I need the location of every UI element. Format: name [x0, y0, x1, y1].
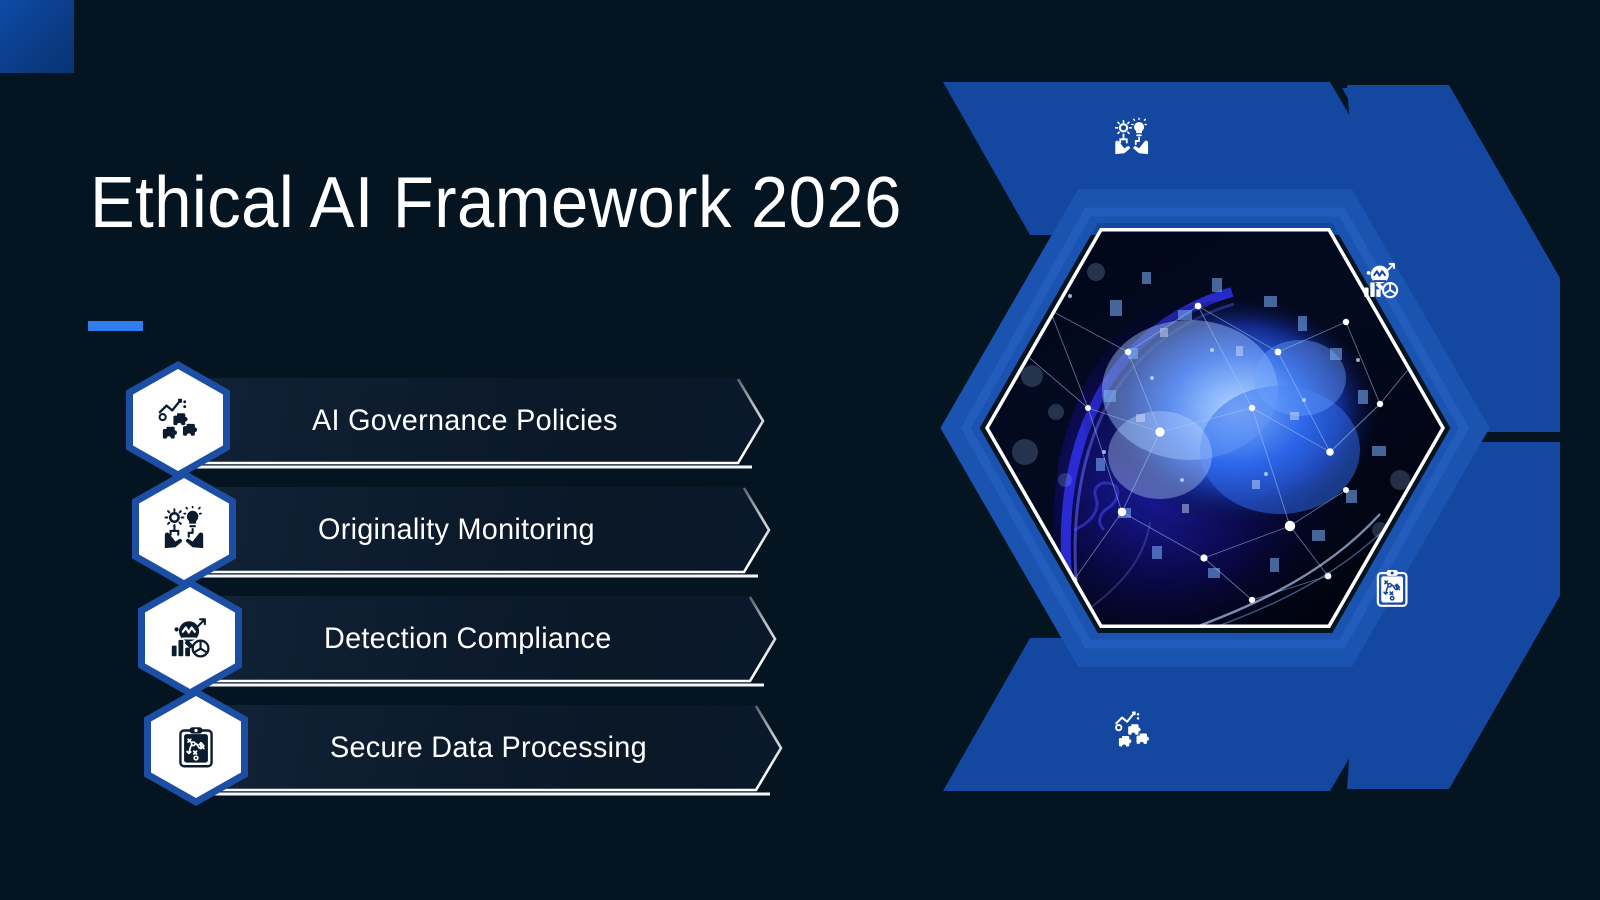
feature-row[interactable]: Secure Data Processing	[196, 705, 781, 815]
feature-hex-badge	[138, 579, 242, 697]
feature-label: AI Governance Policies	[312, 378, 618, 464]
feature-list: AI Governance Policies	[0, 0, 820, 900]
feature-row[interactable]: Originality Monitoring	[184, 487, 769, 597]
feature-label: Originality Monitoring	[318, 487, 595, 573]
feature-hex-badge	[144, 688, 248, 806]
feature-label: Detection Compliance	[324, 596, 612, 682]
feature-hex-badge	[132, 470, 236, 588]
feature-row[interactable]: AI Governance Policies	[178, 378, 763, 488]
slide-canvas: Ethical AI Framework 2026	[0, 0, 1600, 900]
feature-hex-badge	[126, 361, 230, 479]
hexagon-graphic	[860, 60, 1560, 850]
feature-row[interactable]: Detection Compliance	[190, 596, 775, 706]
feature-label: Secure Data Processing	[330, 705, 647, 791]
